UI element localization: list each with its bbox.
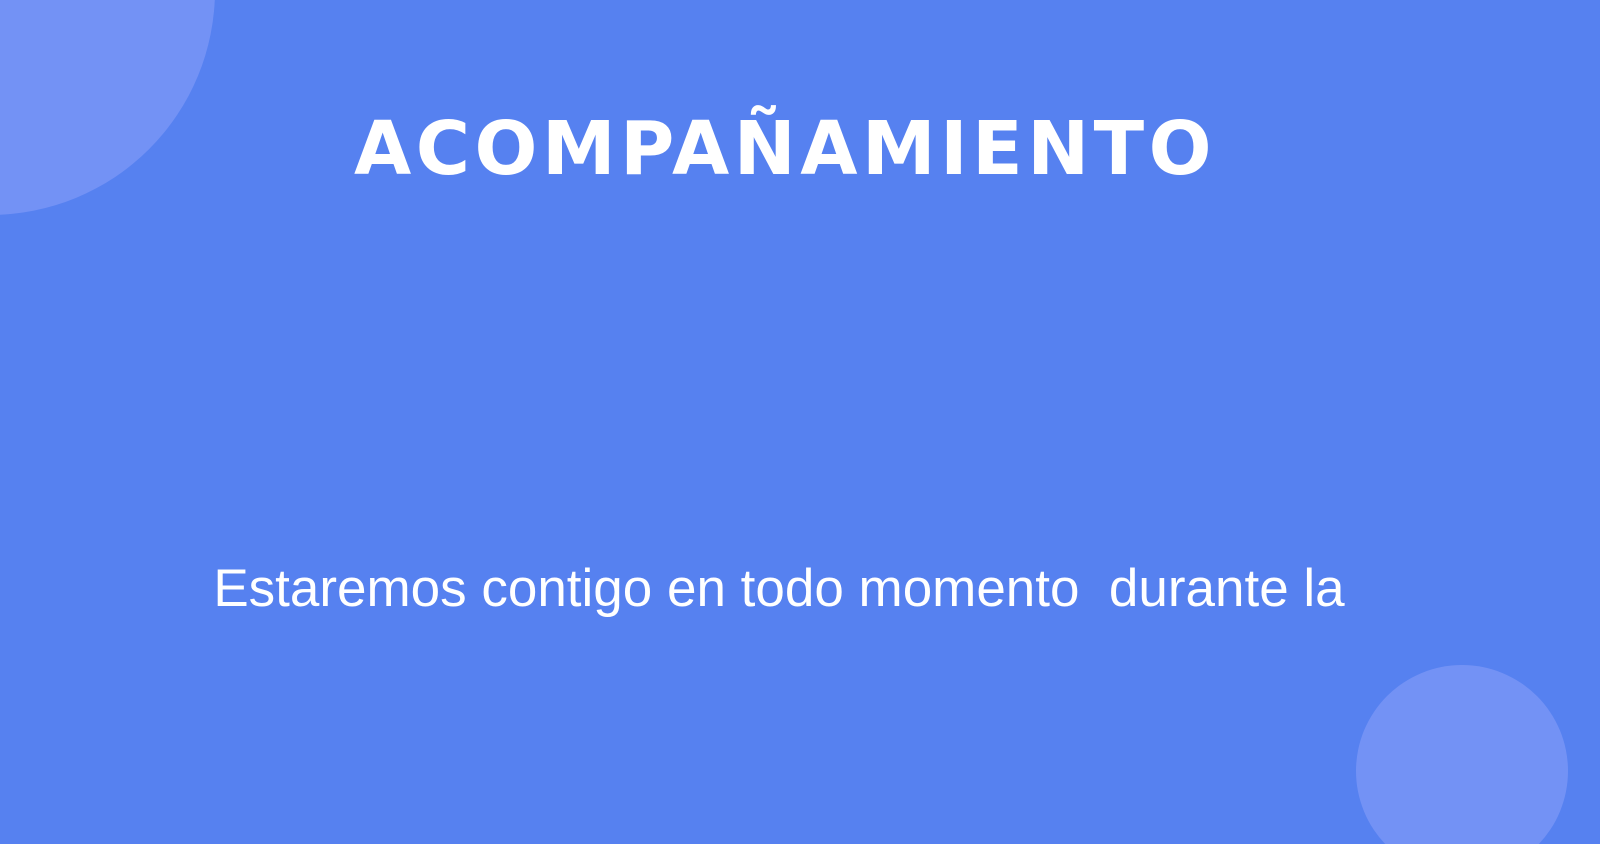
slide-content: ACOMPAÑAMIENTO Estaremos contigo en todo… (0, 0, 1600, 844)
slide-canvas: ACOMPAÑAMIENTO Estaremos contigo en todo… (0, 0, 1600, 844)
slide-body-text: Estaremos contigo en todo momento durant… (14, 356, 1544, 844)
slide-title: ACOMPAÑAMIENTO (0, 112, 1570, 186)
body-line-2: ceremonia, y tendrás seguimiento para (14, 821, 1544, 844)
body-line-1: Estaremos contigo en todo momento durant… (14, 542, 1544, 635)
